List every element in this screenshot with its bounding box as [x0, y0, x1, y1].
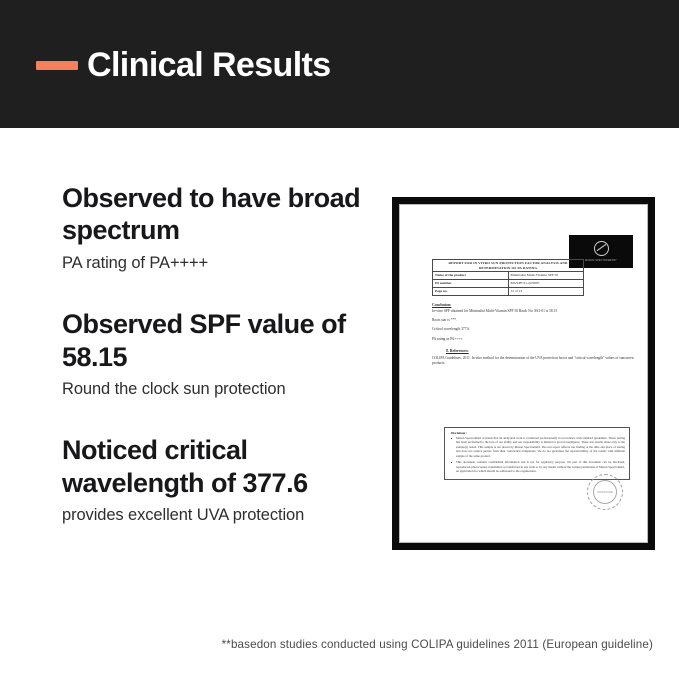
conclusion-line: Critical wavelength 377.6. — [432, 327, 637, 332]
disclaimer-item: Mason Spectrometri warrants that all ana… — [456, 436, 625, 458]
certificate-mat: MASON SPECTROMETRY REPORT FOR IN VITRO S… — [399, 204, 648, 543]
claim-subtext: provides excellent UVA protection — [62, 505, 392, 526]
disclaimer-box: Disclaimer: Mason Spectrometri warrants … — [444, 427, 630, 480]
claim-heading: Noticed critical wavelength of 377.6 — [62, 434, 392, 499]
table-cell-label: ID number — [433, 280, 509, 288]
references-text: COLIPA Guidelines, 2011. In vitro method… — [432, 356, 637, 367]
approval-seal-icon: SIGNATURE — [587, 474, 623, 510]
table-row: Page no. 12 of 13 — [433, 287, 584, 295]
page-header: Clinical Results — [0, 0, 679, 128]
table-row: Name of the product Minimalist Multi-Vit… — [433, 272, 584, 280]
table-row: REPORT FOR IN VITRO SUN PROTECTION FACTO… — [433, 260, 584, 272]
claim-item: Noticed critical wavelength of 377.6 pro… — [62, 434, 392, 526]
footnote: **basedon studies conducted using COLIPA… — [0, 638, 653, 651]
seal-inner-ring: SIGNATURE — [593, 480, 617, 504]
claims-list: Observed to have broad spectrum PA ratin… — [62, 182, 392, 527]
disclaimer-list: Mason Spectrometri warrants that all ana… — [449, 436, 625, 474]
claim-subtext: PA rating of PA++++ — [62, 253, 392, 274]
report-table-title: REPORT FOR IN VITRO SUN PROTECTION FACTO… — [433, 260, 584, 272]
claim-item: Observed to have broad spectrum PA ratin… — [62, 182, 392, 274]
disclaimer-item: This document contains confidential info… — [456, 460, 625, 473]
claim-subtext: Round the clock sun protection — [62, 379, 392, 400]
claim-item: Observed SPF value of 58.15 Round the cl… — [62, 308, 392, 400]
table-cell-value: 12 of 13 — [508, 287, 584, 295]
page-title: Clinical Results — [87, 48, 331, 82]
header-title-group: Clinical Results — [36, 48, 331, 82]
conclusion-title: Conclusion: — [432, 303, 637, 307]
disclaimer-title: Disclaimer: — [451, 431, 625, 435]
certificate-frame: MASON SPECTROMETRY REPORT FOR IN VITRO S… — [392, 197, 655, 550]
table-cell-value: Minimalist Multi-Vitamin SPF 50 — [508, 272, 584, 280]
table-cell-value: MS/SPF/21-22/0687 — [508, 280, 584, 288]
table-cell-label: Name of the product — [433, 272, 509, 280]
claim-heading: Observed SPF value of 58.15 — [62, 308, 392, 373]
table-cell-label: Page no. — [433, 287, 509, 295]
references-title: 8. References: — [446, 349, 637, 353]
lab-logo-caption: MASON SPECTROMETRY — [585, 260, 617, 262]
claim-heading: Observed to have broad spectrum — [62, 182, 392, 247]
conclusion-line: In-vitro SPF obtained for Minimalist Mul… — [432, 309, 637, 314]
accent-dash-icon — [36, 61, 78, 70]
conclusion-line: Boots star is ***. — [432, 318, 637, 323]
seal-label: SIGNATURE — [597, 491, 613, 494]
conclusion-line: PA rating as PA++++. — [432, 337, 637, 342]
lab-logo-mark-icon — [594, 241, 609, 256]
certificate-document: MASON SPECTROMETRY REPORT FOR IN VITRO S… — [406, 211, 641, 536]
report-table: REPORT FOR IN VITRO SUN PROTECTION FACTO… — [432, 259, 584, 296]
table-row: ID number MS/SPF/21-22/0687 — [433, 280, 584, 288]
certificate-body: Conclusion: In-vitro SPF obtained for Mi… — [432, 303, 637, 367]
